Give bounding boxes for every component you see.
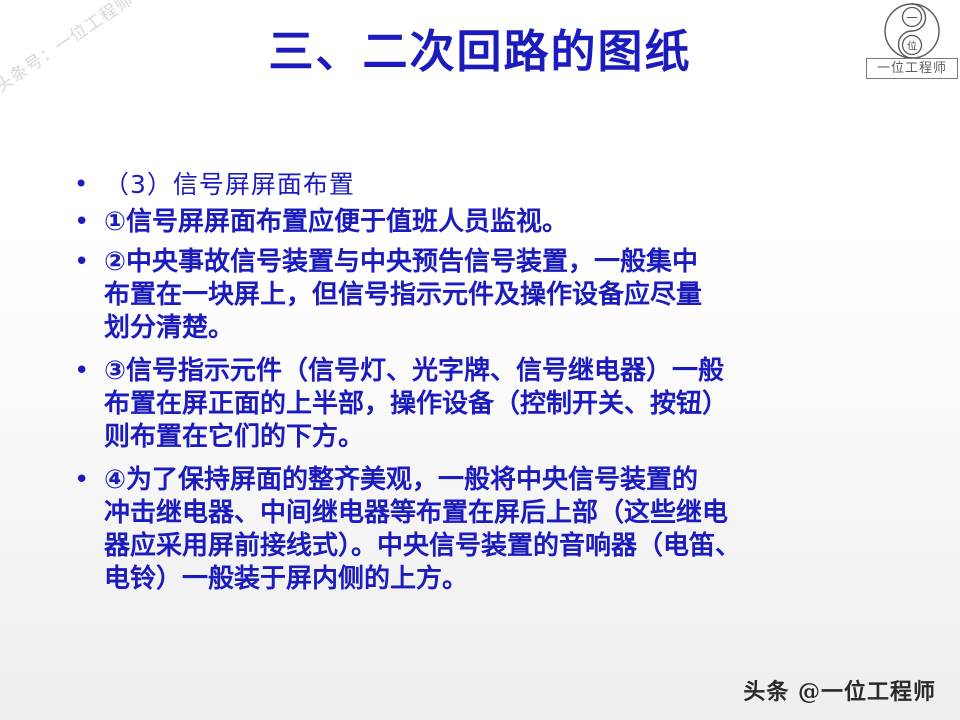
bullet-marker-icon: • <box>74 355 104 388</box>
footer-attribution: 头条 @一位工程师 <box>743 678 936 706</box>
list-item: • ①信号屏屏面布置应便于值班人员监视。 <box>74 206 914 239</box>
bullet-marker-icon: • <box>74 464 104 497</box>
bullet-list: • （3）信号屏屏面布置 • ①信号屏屏面布置应便于值班人员监视。 • ②中央事… <box>74 168 914 596</box>
list-item-text: ③信号指示元件（信号灯、光字牌、信号继电器）一般 布置在屏正面的上半部，操作设备… <box>104 355 914 454</box>
logo-top-char: 一 <box>907 12 918 25</box>
list-item-text: （3）信号屏屏面布置 <box>104 168 914 201</box>
bullet-marker-icon: • <box>74 246 104 279</box>
list-item-text: ④为了保持屏面的整齐美观，一般将中央信号装置的 冲击继电器、中间继电器等布置在屏… <box>104 464 914 596</box>
list-item: • ④为了保持屏面的整齐美观，一般将中央信号装置的 冲击继电器、中间继电器等布置… <box>74 464 914 596</box>
list-item: • ②中央事故信号装置与中央预告信号装置，一般集中 布置在一块屏上，但信号指示元… <box>74 246 914 345</box>
list-item: • ③信号指示元件（信号灯、光字牌、信号继电器）一般 布置在屏正面的上半部，操作… <box>74 355 914 454</box>
page-title: 三、二次回路的图纸 <box>0 24 960 80</box>
list-item: • （3）信号屏屏面布置 <box>74 168 914 201</box>
list-item-text: ②中央事故信号装置与中央预告信号装置，一般集中 布置在一块屏上，但信号指示元件及… <box>104 246 914 345</box>
bullet-marker-icon: • <box>74 206 104 239</box>
slide-canvas: 头条号：一位工程师 一 位 一位工程师 三、二次回路的图纸 • （3）信号屏屏面… <box>0 0 960 720</box>
bullet-marker-icon: • <box>74 168 104 201</box>
list-item-text: ①信号屏屏面布置应便于值班人员监视。 <box>104 206 914 239</box>
